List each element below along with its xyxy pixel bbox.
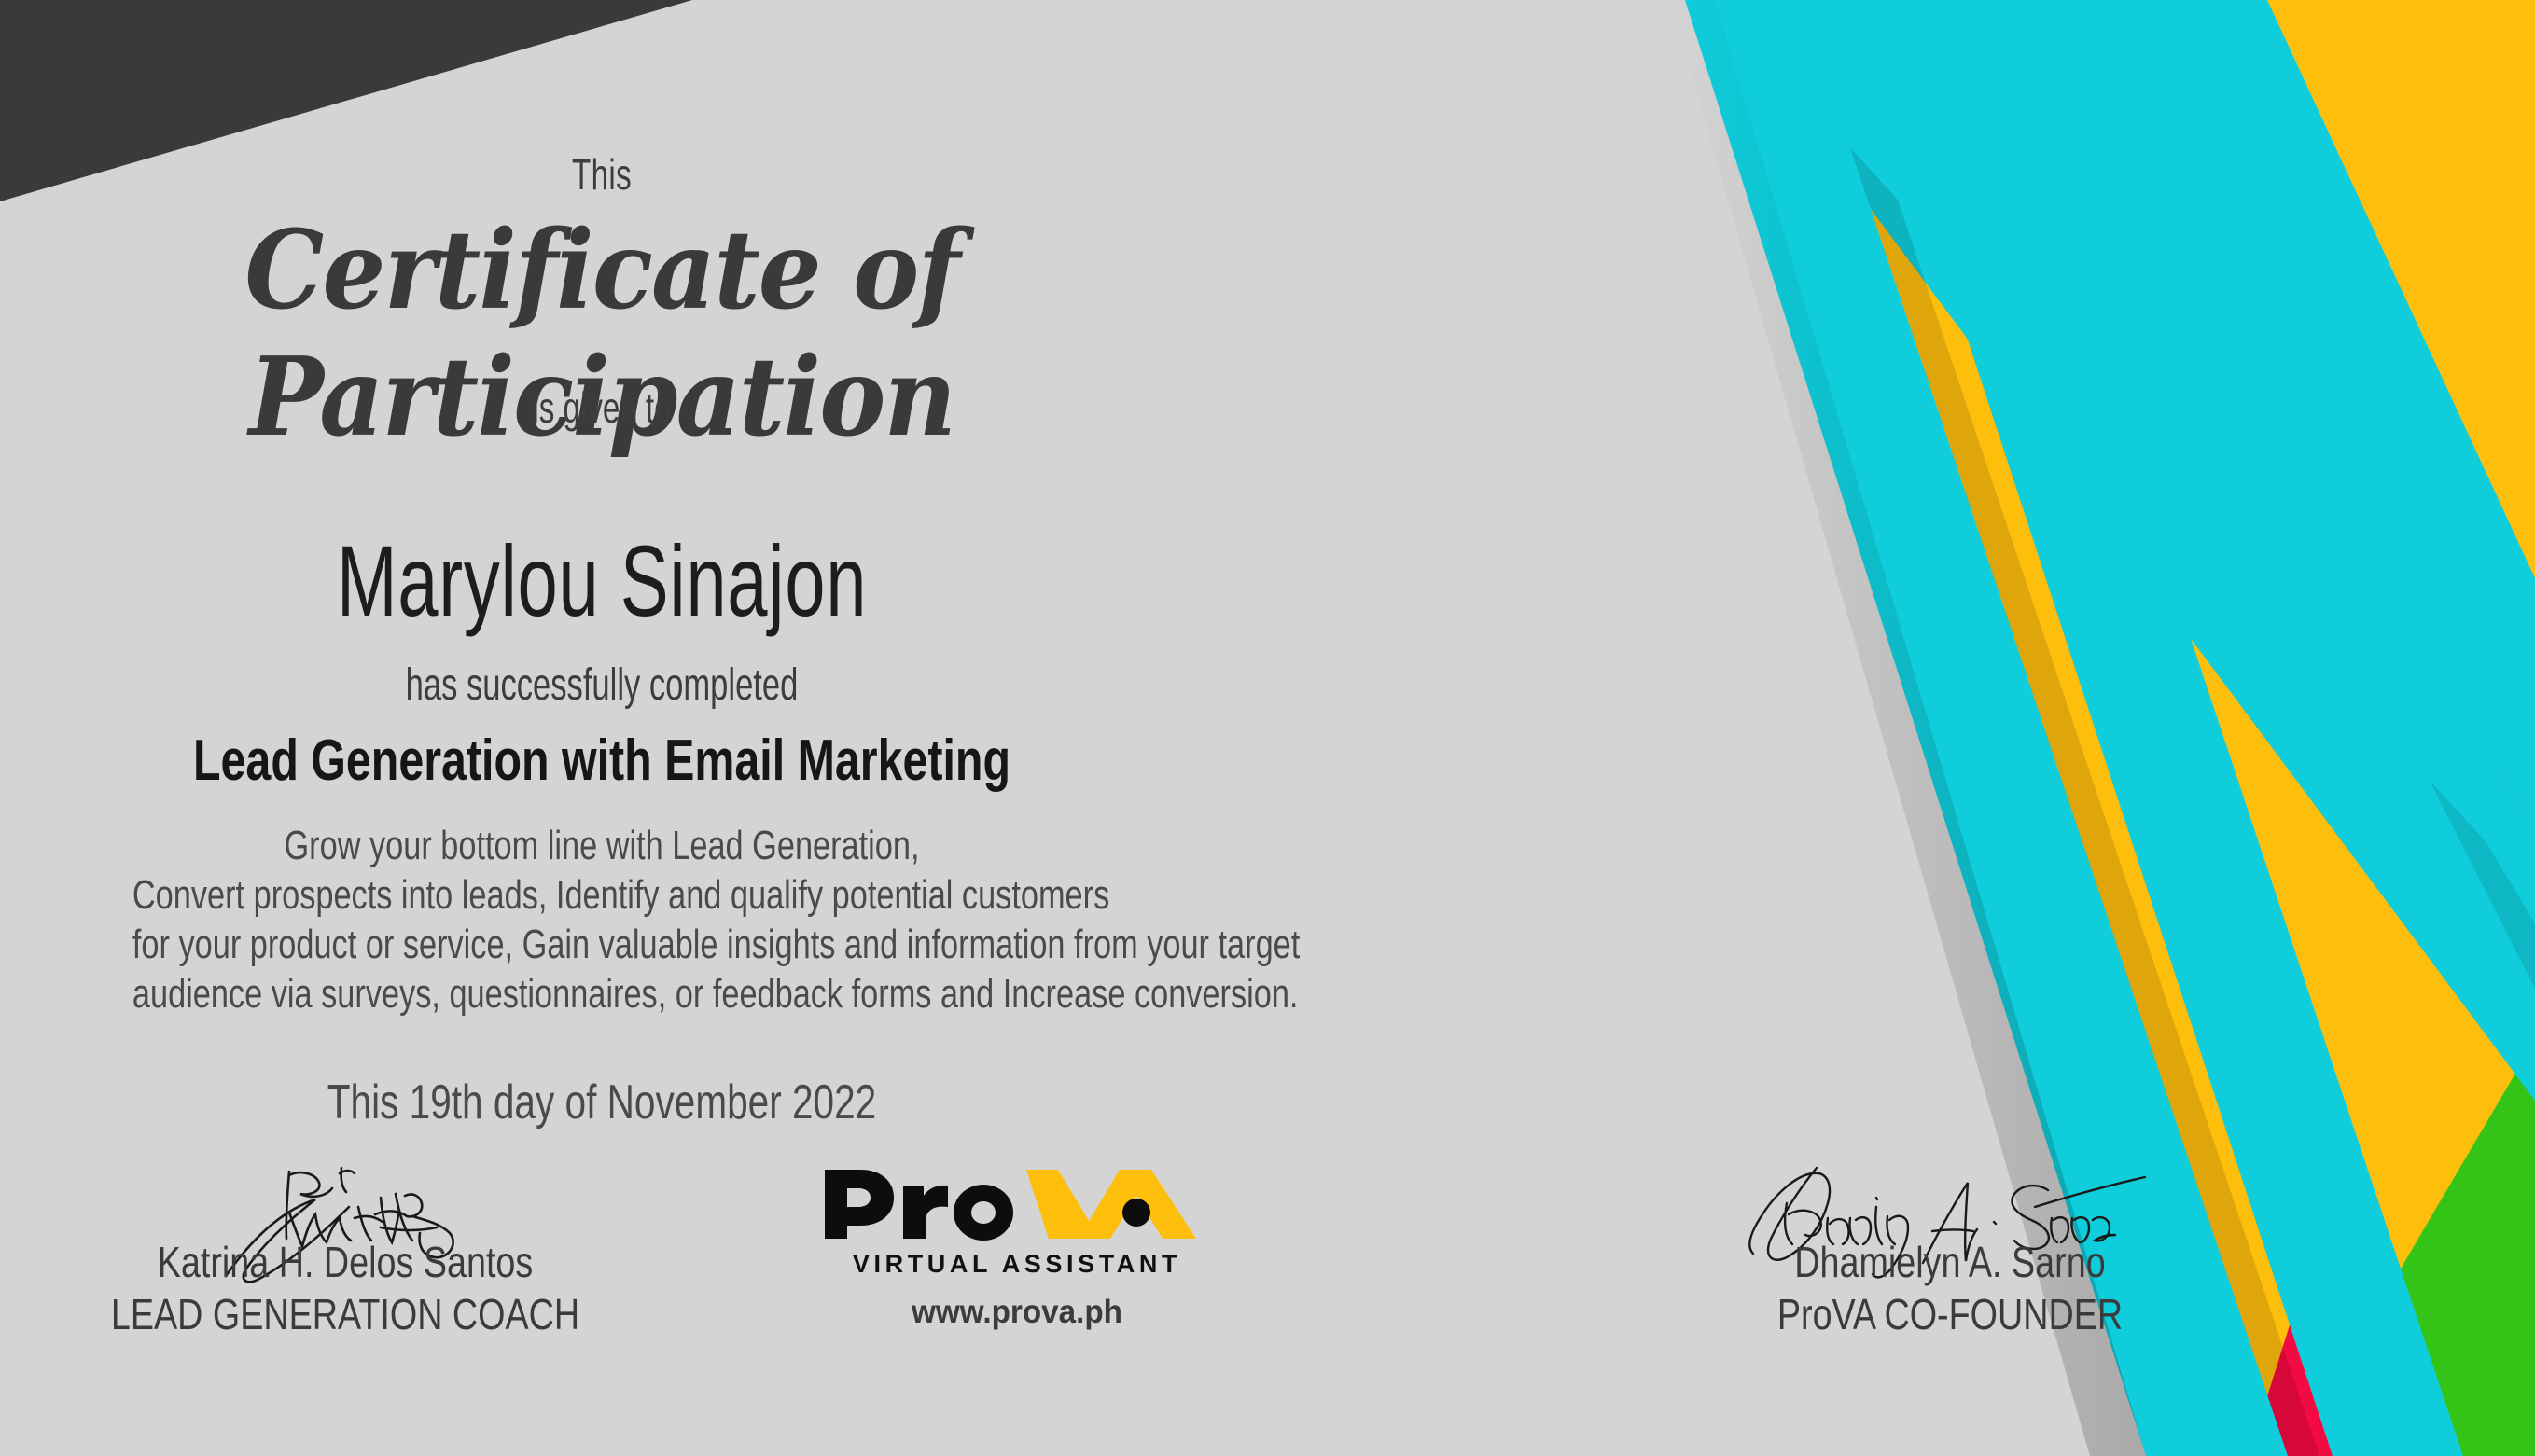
- certificate-canvas: This Certificate of Participation is giv…: [0, 0, 2535, 1456]
- signature-role: ProVA CO-FOUNDER: [1675, 1289, 2225, 1339]
- sweep-shadow-2: [1978, 0, 2535, 989]
- cyan-fold-overlay: [1715, 0, 2535, 895]
- completion-label: has successfully completed: [169, 659, 1036, 711]
- green-wedge: [2291, 1040, 2535, 1456]
- cyan-sweep-upper: [1918, 0, 2535, 821]
- course-description: Grow your bottom line with Lead Generati…: [132, 821, 1071, 1019]
- description-line: audience via surveys, questionnaires, or…: [132, 969, 1071, 1019]
- description-line: for your product or service, Gain valuab…: [132, 920, 1071, 969]
- course-title: Lead Generation with Email Marketing: [132, 728, 1071, 794]
- description-line: Grow your bottom line with Lead Generati…: [132, 821, 1071, 870]
- prova-website[interactable]: www.prova.ph: [829, 1294, 1205, 1331]
- recipient-name: Marylou Sinajon: [169, 522, 1036, 639]
- given-to-label: is given to: [169, 382, 1036, 433]
- cyan-sweep-band: [1715, 0, 2535, 1101]
- issue-date: This 19th day of November 2022: [132, 1075, 1071, 1130]
- prova-tagline: VIRTUAL ASSISTANT: [819, 1250, 1215, 1279]
- intro-word: This: [169, 149, 1036, 200]
- prova-wordmark-icon: [819, 1168, 1215, 1241]
- signature-name: Dhamielyn A. Sarno: [1675, 1237, 2225, 1287]
- signature-name: Katrina H. Delos Santos: [70, 1237, 620, 1287]
- signature-block-coach: Katrina H. Delos Santos LEAD GENERATION …: [9, 1166, 681, 1339]
- signature-block-cofounder: Dhamielyn A. Sarno ProVA CO-FOUNDER: [1614, 1166, 2286, 1339]
- description-line: Convert prospects into leads, Identify a…: [132, 870, 1071, 920]
- prova-logo: VIRTUAL ASSISTANT www.prova.ph: [819, 1168, 1215, 1331]
- signature-role: LEAD GENERATION COACH: [70, 1289, 620, 1339]
